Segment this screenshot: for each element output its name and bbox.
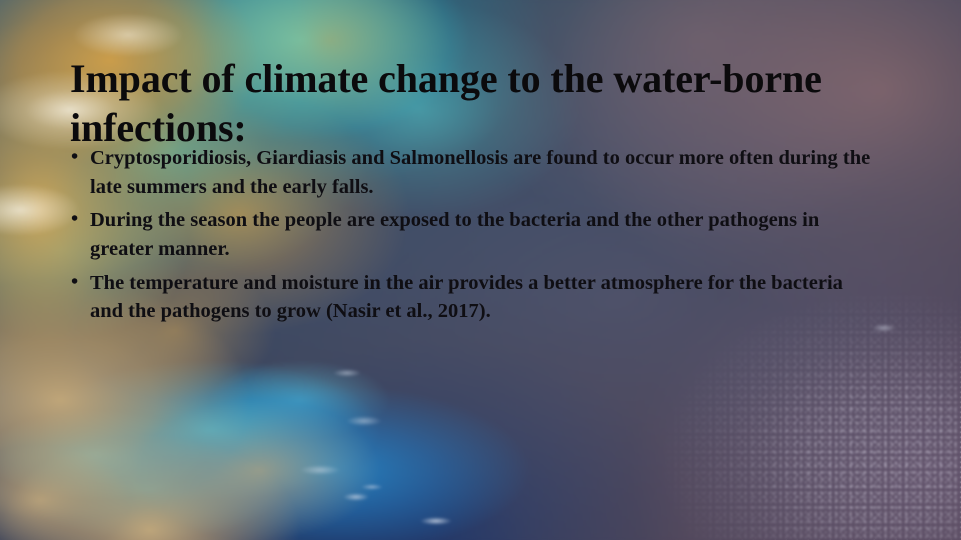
bullet-list: • Cryptosporidiosis, Giardiasis and Salm… bbox=[68, 144, 878, 331]
slide-content: Impact of climate change to the water-bo… bbox=[0, 0, 961, 540]
presentation-slide: Impact of climate change to the water-bo… bbox=[0, 0, 961, 540]
list-item-text: During the season the people are exposed… bbox=[90, 209, 819, 260]
bullet-point-icon: • bbox=[71, 143, 78, 172]
bullet-point-icon: • bbox=[71, 205, 78, 234]
page-title: Impact of climate change to the water-bo… bbox=[70, 55, 860, 153]
list-item: • During the season the people are expos… bbox=[68, 206, 878, 263]
list-item: • Cryptosporidiosis, Giardiasis and Salm… bbox=[68, 144, 878, 201]
list-item-text: The temperature and moisture in the air … bbox=[90, 272, 843, 323]
list-item-text: Cryptosporidiosis, Giardiasis and Salmon… bbox=[90, 147, 870, 198]
list-item: • The temperature and moisture in the ai… bbox=[68, 269, 878, 326]
bullet-point-icon: • bbox=[71, 268, 78, 297]
